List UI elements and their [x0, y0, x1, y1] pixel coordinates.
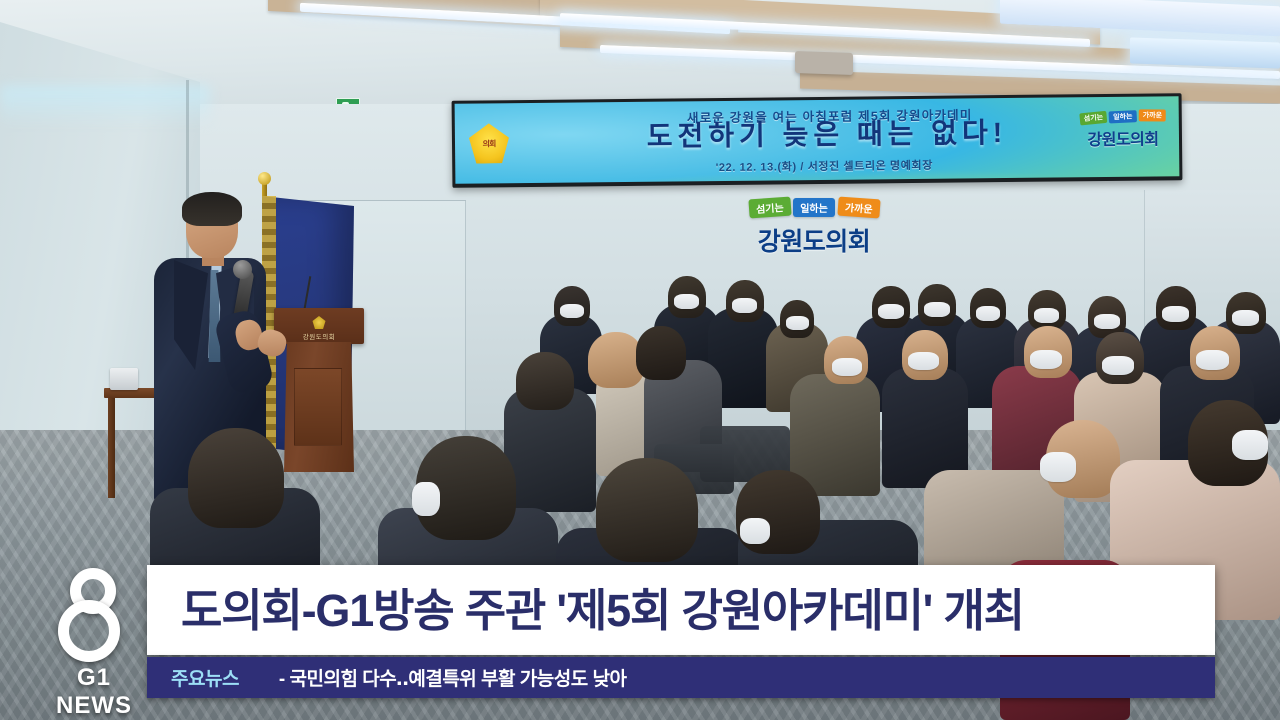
headline-lower-third: 도의회-G1방송 주관 '제5회 강원아카데미' 개최 [147, 565, 1215, 655]
audience-member-head [516, 352, 574, 410]
face-mask [1232, 310, 1259, 326]
wall-sign-pills: 섬기는 일하는 가까운 [730, 198, 898, 217]
face-mask [832, 358, 862, 376]
table-equipment [110, 368, 138, 390]
flag-pole-finial [258, 172, 271, 185]
audience-member-head [636, 326, 686, 380]
face-mask [1196, 350, 1229, 370]
face-mask [674, 294, 699, 309]
podium-top: 강원도의회 [274, 308, 364, 344]
wall-sign: 섬기는 일하는 가까운 강원도의회 [730, 198, 898, 258]
stage-banner-content: 의회 새로운 강원을 여는 아침포럼 제5회 강원아카데미 도전하기 늦은 때는… [455, 96, 1180, 184]
podium-emblem-icon [313, 316, 326, 329]
stage-banner-screen: 의회 새로운 강원을 여는 아침포럼 제5회 강원아카데미 도전하기 늦은 때는… [452, 93, 1183, 188]
pill-serving: 섬기는 [748, 197, 791, 219]
channel-logo: G1 NEWS [44, 568, 144, 700]
face-mask [412, 482, 440, 516]
face-mask [1034, 308, 1059, 323]
ceiling-light [1130, 37, 1280, 68]
stage-banner-logo-pills: 섬기는 일하는 가까운 [1077, 109, 1169, 125]
pill-close: 가까운 [1138, 109, 1165, 121]
wall-light-glow [0, 86, 210, 126]
face-mask [1040, 452, 1076, 482]
channel-logo-8-icon [56, 568, 132, 662]
face-mask [1102, 356, 1134, 375]
podium-front-panel [294, 368, 342, 446]
face-mask [786, 316, 809, 330]
face-mask [1030, 350, 1062, 369]
channel-name: G1 NEWS [44, 664, 144, 720]
side-table-leg [108, 398, 115, 498]
ticker-headline: - 국민의힘 다수‥예결특위 부활 가능성도 낮아 [239, 664, 627, 691]
face-mask [1094, 314, 1120, 329]
headline-text: 도의회-G1방송 주관 '제5회 강원아카데미' 개최 [147, 588, 1215, 633]
audience-member-head [596, 458, 698, 562]
face-mask [1232, 430, 1268, 460]
face-mask [976, 306, 1000, 321]
pill-working: 일하는 [1109, 110, 1137, 123]
podium-label: 강원도의회 [274, 331, 364, 341]
face-mask [1162, 306, 1189, 322]
news-ticker-bar: 주요뉴스 - 국민의힘 다수‥예결특위 부활 가능성도 낮아 [147, 657, 1215, 698]
face-mask [732, 298, 757, 313]
wall-sign-org: 강원도의회 [730, 222, 898, 258]
pill-close: 가까운 [837, 197, 880, 219]
audience-member-head [188, 428, 284, 528]
pill-serving: 섬기는 [1079, 111, 1107, 126]
stage-banner-logo-org: 강원도의회 [1077, 125, 1169, 150]
ceiling-projector [795, 51, 853, 75]
face-mask [740, 518, 770, 544]
stage-banner-logo: 섬기는 일하는 가까운 강원도의회 [1077, 110, 1169, 150]
podium: 강원도의회 [280, 308, 358, 478]
face-mask [924, 302, 950, 317]
stage-banner-title: 도전하기 늦은 때는 없다! [455, 116, 1179, 154]
ticker-label: 주요뉴스 [147, 664, 239, 691]
face-mask [908, 352, 939, 370]
stage-banner-date: '22. 12. 13.(화) / 서정진 셀트리온 명예회장 [455, 154, 1179, 178]
speaker-hair [182, 192, 242, 226]
logo-ring-bottom [58, 600, 120, 662]
pill-working: 일하는 [793, 198, 835, 217]
face-mask [878, 304, 904, 319]
broadcast-frame: 의회 새로운 강원을 여는 아침포럼 제5회 강원아카데미 도전하기 늦은 때는… [0, 0, 1280, 720]
face-mask [560, 304, 584, 318]
